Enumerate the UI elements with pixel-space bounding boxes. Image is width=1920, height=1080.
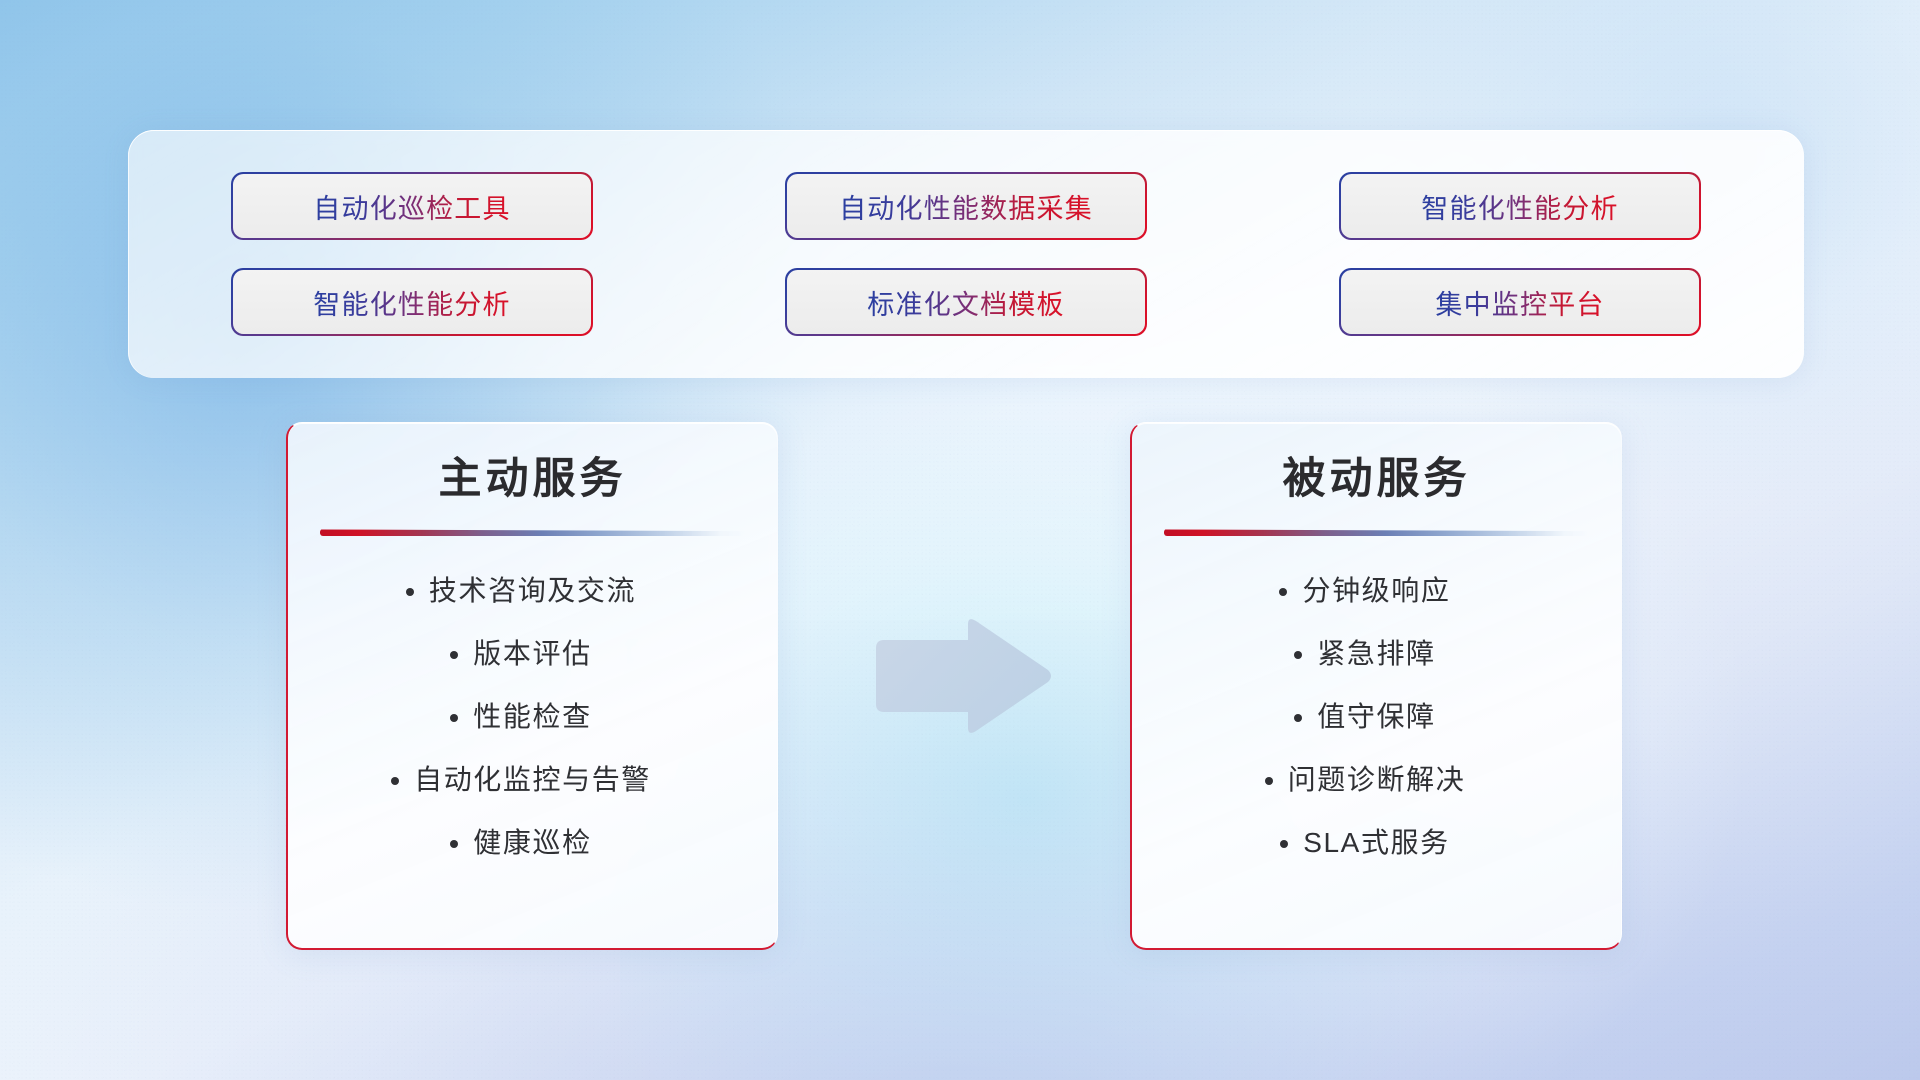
capability-tag-0[interactable]: 自动化巡检工具: [233, 174, 591, 238]
service-list-item: 健康巡检: [473, 824, 591, 862]
service-card-divider: [1164, 529, 1590, 536]
service-card-title: 被动服务: [1166, 453, 1587, 505]
capability-tag-grid: 自动化巡检工具 自动化性能数据采集 智能化性能分析 智能化性能分析 标准化文档模…: [233, 174, 1699, 334]
service-list-item: 版本评估: [473, 635, 591, 673]
capability-tag-label: 自动化性能数据采集: [839, 187, 1093, 226]
capability-tag-3[interactable]: 智能化性能分析: [233, 270, 591, 334]
capability-tag-panel: 自动化巡检工具 自动化性能数据采集 智能化性能分析 智能化性能分析 标准化文档模…: [128, 130, 1804, 378]
capability-tag-5[interactable]: 集中监控平台: [1341, 270, 1699, 334]
capability-tag-label: 集中监控平台: [1435, 283, 1604, 322]
service-list-item: SLA式服务: [1303, 824, 1450, 862]
capability-tag-label: 智能化性能分析: [313, 283, 510, 322]
service-item-list: 技术咨询及交流 版本评估 性能检查 自动化监控与告警 健康巡检: [322, 572, 743, 861]
service-list-item: 紧急排障: [1317, 635, 1435, 673]
service-list-item: 问题诊断解决: [1288, 761, 1466, 799]
service-list-item: 分钟级响应: [1302, 572, 1450, 610]
service-card-title: 主动服务: [322, 453, 743, 505]
capability-tag-label: 智能化性能分析: [1421, 187, 1618, 226]
capability-tag-2[interactable]: 智能化性能分析: [1341, 174, 1699, 238]
service-list-item: 性能检查: [473, 698, 591, 736]
service-card-proactive: 主动服务 技术咨询及交流 版本评估 性能检查 自动化监控与告警 健康巡检: [286, 422, 778, 950]
service-list-item: 自动化监控与告警: [414, 761, 651, 799]
capability-tag-4[interactable]: 标准化文档模板: [787, 270, 1145, 334]
arrow-right-icon: [872, 616, 1054, 736]
capability-tag-1[interactable]: 自动化性能数据采集: [787, 174, 1145, 238]
capability-tag-label: 标准化文档模板: [867, 283, 1064, 322]
diagram-stage: 自动化巡检工具 自动化性能数据采集 智能化性能分析 智能化性能分析 标准化文档模…: [0, 0, 1920, 1080]
capability-tag-label: 自动化巡检工具: [313, 187, 510, 226]
service-item-list: 分钟级响应 紧急排障 值守保障 问题诊断解决 SLA式服务: [1166, 572, 1587, 861]
service-list-item: 值守保障: [1317, 698, 1435, 736]
service-list-item: 技术咨询及交流: [429, 572, 636, 610]
service-card-divider: [320, 529, 746, 536]
service-card-reactive: 被动服务 分钟级响应 紧急排障 值守保障 问题诊断解决 SLA式服务: [1130, 422, 1622, 950]
